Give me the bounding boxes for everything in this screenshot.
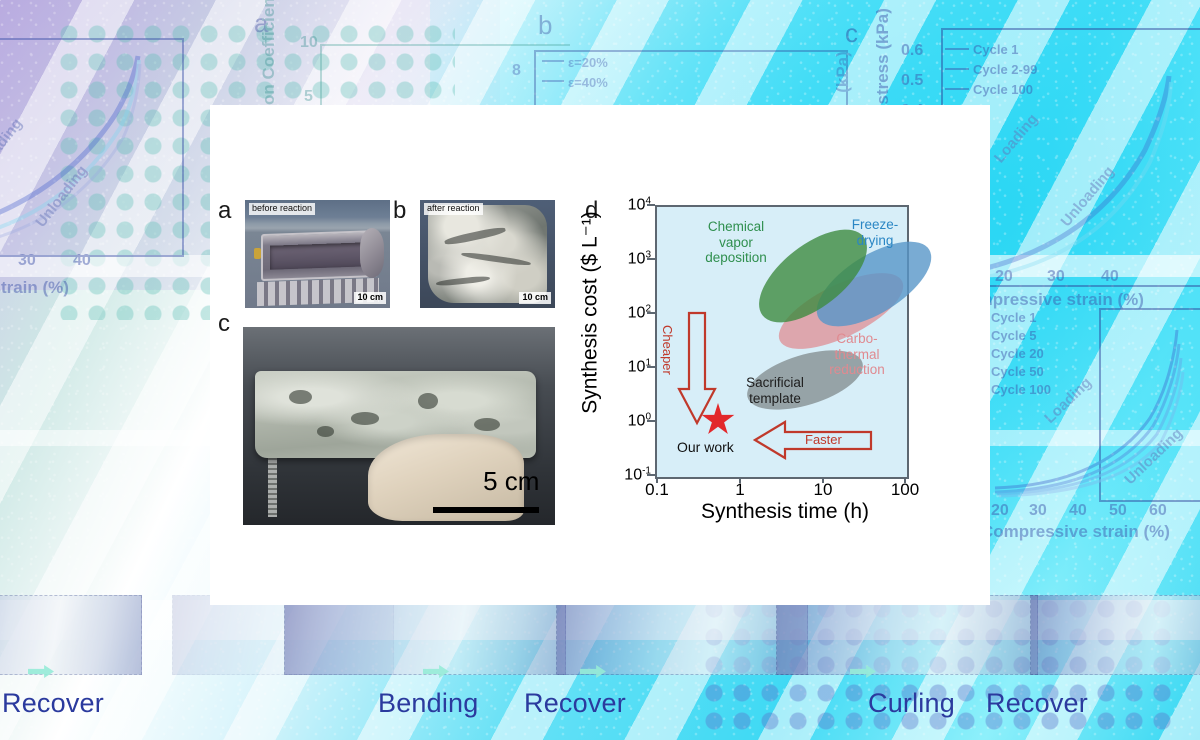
photo-c-scalebar-line bbox=[433, 507, 539, 513]
bg-xaxis-label-g: Compressive strain (%) bbox=[981, 522, 1170, 542]
bg-strip-photo-4 bbox=[556, 595, 808, 675]
bg-xtick-50-g: 50 bbox=[1109, 502, 1127, 520]
bg-xtick-60-g: 60 bbox=[1149, 502, 1167, 520]
chart-xtick-1: 1 bbox=[735, 480, 744, 500]
panel-letter-a: a bbox=[218, 197, 231, 225]
photo-panel-a: before reaction 10 cm bbox=[245, 200, 390, 308]
bg-strip-caption-recover-1: Recover bbox=[2, 688, 104, 719]
bg-xtick-20-c: 20 bbox=[995, 268, 1013, 286]
cheaper-arrow-icon bbox=[677, 311, 717, 427]
panel-letter-c: c bbox=[218, 310, 230, 338]
bg-panel-letter-b: b bbox=[538, 10, 552, 41]
region-label-chemical-vapor-deposition: Chemical vapor deposition bbox=[703, 219, 769, 266]
region-label-carbothermal-reduction: Carbo- thermal reduction bbox=[823, 331, 891, 378]
photo-panel-b: after reaction 10 cm bbox=[420, 200, 555, 308]
photo-panel-c: 5 cm bbox=[243, 327, 555, 525]
chart-xtick-0p1: 0.1 bbox=[645, 480, 669, 500]
synthesis-cost-vs-time-chart: Synthesis cost ($ L⁻¹) Synthesis time (h… bbox=[585, 190, 985, 535]
foreground-figure-card: a before reaction 10 cm b after reaction… bbox=[210, 105, 990, 605]
bg-strip-photo-5 bbox=[776, 595, 1038, 675]
chart-yaxis-label: Synthesis cost ($ L⁻¹) bbox=[578, 133, 603, 493]
chart-xaxis-label: Synthesis time (h) bbox=[635, 500, 935, 524]
bg-xtick-30-1: 30 bbox=[18, 252, 36, 270]
bg-ytick-10-a: 10 bbox=[300, 34, 318, 52]
panel-letter-b: b bbox=[393, 197, 406, 225]
bg-strip-caption-bending: Bending bbox=[378, 688, 479, 719]
bg-legend-eps20: ε=20% bbox=[568, 55, 608, 70]
bg-xaxis-label-1: Compressive strain (%) bbox=[0, 278, 69, 298]
photo-b-scalebar-label: 10 cm bbox=[519, 292, 551, 304]
bg-xtick-40-1: 40 bbox=[73, 252, 91, 270]
bg-strip-photo-6 bbox=[1030, 595, 1200, 675]
chart-xtick-10: 10 bbox=[814, 480, 833, 500]
bg-strip-photo-3 bbox=[284, 595, 566, 675]
region-label-freeze-drying: Freeze- drying bbox=[845, 217, 905, 248]
chart-xtick-100: 100 bbox=[891, 480, 919, 500]
figure-canvas: Cycle 1 Cycle 2-99 Cycle 100 Loading Unl… bbox=[0, 0, 1200, 740]
faster-arrow-label: Faster bbox=[805, 432, 842, 447]
bg-strip-caption-recover-2: Recover bbox=[524, 688, 626, 719]
bg-legend-eps40: ε=40% bbox=[568, 75, 608, 90]
bg-xtick-30-c: 30 bbox=[1047, 268, 1065, 286]
our-work-label: Our work bbox=[677, 439, 734, 455]
bg-strip-caption-curling: Curling bbox=[868, 688, 955, 719]
chart-plot-area: Chemical vapor deposition Freeze- drying… bbox=[655, 205, 909, 479]
bg-xtick-40-c: 40 bbox=[1101, 268, 1119, 286]
bg-xtick-30-g: 30 bbox=[1029, 502, 1047, 520]
photo-b-caption: after reaction bbox=[424, 203, 483, 215]
bg-strip-photo-1 bbox=[0, 595, 142, 675]
bg-xtick-40-g: 40 bbox=[1069, 502, 1087, 520]
bg-ytick-8-b: 8 bbox=[512, 62, 521, 80]
bg-subfigure-g: Cycle 1 Cycle 5 Cycle 20 Cycle 50 Cycle … bbox=[985, 300, 1200, 560]
bg-deformation-strip bbox=[0, 595, 1200, 690]
bg-xtick-20-g: 20 bbox=[991, 502, 1009, 520]
bg-ytick-5-a: 5 bbox=[304, 88, 313, 106]
bg-strip-caption-recover-3: Recover bbox=[986, 688, 1088, 719]
photo-a-caption: before reaction bbox=[249, 203, 315, 215]
region-label-sacrificial-template: Sacrificial template bbox=[733, 375, 817, 406]
photo-a-scalebar-label: 10 cm bbox=[354, 292, 386, 304]
photo-c-scalebar-label: 5 cm bbox=[483, 466, 539, 497]
cheaper-arrow-label: Cheaper bbox=[660, 325, 675, 375]
